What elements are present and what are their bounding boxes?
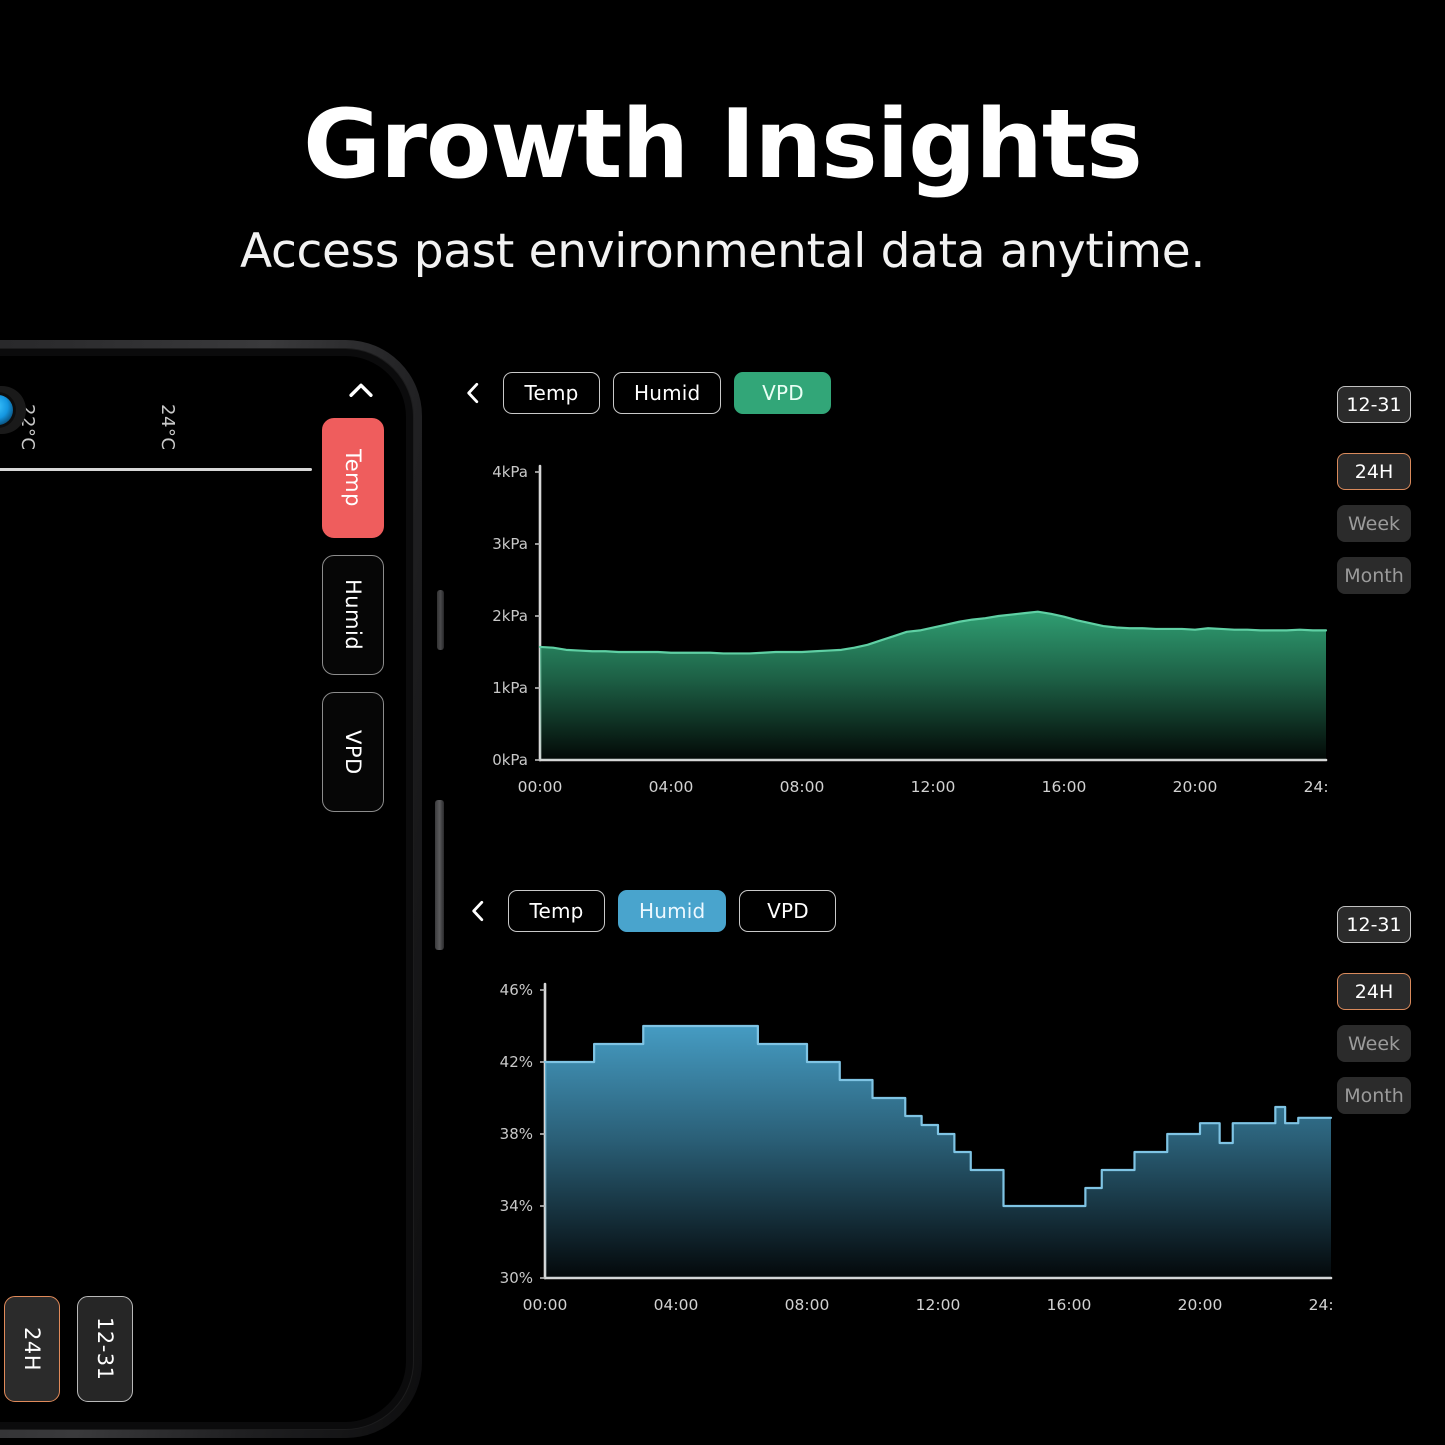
vpd-range-group: 12-31 24H Week Month [1337, 386, 1411, 609]
phone-date-button[interactable]: 12-31 [77, 1296, 133, 1402]
hero-section: Growth Insights Access past environmenta… [0, 0, 1445, 279]
phone-sensor-button-group: Temp Humid VPD [322, 418, 384, 829]
svg-text:20:00: 20:00 [1173, 778, 1218, 796]
svg-text:2kPa: 2kPa [492, 607, 528, 625]
vpd-tab-humid[interactable]: Humid [613, 372, 721, 414]
phone-sensor-button-humid[interactable]: Humid [322, 555, 384, 675]
svg-text:34%: 34% [500, 1197, 533, 1215]
vpd-range-week-label: Week [1348, 513, 1400, 535]
svg-text:04:00: 04:00 [654, 1296, 699, 1314]
vpd-chart: 0kPa1kPa2kPa3kPa4kPa00:0004:0008:0012:00… [478, 450, 1328, 810]
svg-text:00:00: 00:00 [518, 778, 563, 796]
svg-text:12:00: 12:00 [916, 1296, 961, 1314]
humid-range-group: 12-31 24H Week Month [1337, 906, 1411, 1129]
humid-date-label: 12-31 [1346, 914, 1401, 936]
vpd-segment-row: Temp Humid VPD [460, 372, 1420, 414]
humid-range-week[interactable]: Week [1337, 1025, 1411, 1062]
vpd-range-month[interactable]: Month [1337, 557, 1411, 594]
phone-date-label: 12-31 [93, 1317, 117, 1381]
vpd-tab-temp[interactable]: Temp [503, 372, 600, 414]
phone-sensor-label-humid: Humid [341, 579, 365, 650]
vpd-tab-temp-label: Temp [524, 381, 578, 405]
humid-range-24h-label: 24H [1355, 981, 1393, 1003]
phone-range-label-24h: 24H [20, 1327, 44, 1371]
svg-text:1kPa: 1kPa [492, 679, 528, 697]
svg-text:16:00: 16:00 [1047, 1296, 1092, 1314]
svg-text:12:00: 12:00 [911, 778, 956, 796]
vpd-range-week[interactable]: Week [1337, 505, 1411, 542]
phone-chart-axis-line [0, 468, 312, 471]
humid-range-month[interactable]: Month [1337, 1077, 1411, 1114]
phone-sensor-button-vpd[interactable]: VPD [322, 692, 384, 812]
svg-text:20:00: 20:00 [1178, 1296, 1223, 1314]
svg-text:16:00: 16:00 [1042, 778, 1087, 796]
svg-text:30%: 30% [500, 1269, 533, 1287]
phone-range-button-24h[interactable]: 24H [4, 1296, 60, 1402]
page-title: Growth Insights [0, 96, 1445, 196]
humid-tab-temp-label: Temp [529, 899, 583, 923]
vpd-date-label: 12-31 [1346, 394, 1401, 416]
humid-tab-temp[interactable]: Temp [508, 890, 605, 932]
svg-text:0kPa: 0kPa [492, 751, 528, 769]
chevron-left-icon[interactable] [460, 378, 486, 408]
humid-segment-row: Temp Humid VPD [465, 890, 1425, 932]
phone-screen: 18°C 20°C 22°C 24°C Temp Humid VPD [0, 356, 406, 1422]
svg-text:4kPa: 4kPa [492, 463, 528, 481]
svg-text:42%: 42% [500, 1053, 533, 1071]
humid-range-week-label: Week [1348, 1033, 1400, 1055]
svg-text:08:00: 08:00 [780, 778, 825, 796]
svg-text:24:00: 24:00 [1309, 1296, 1333, 1314]
humid-range-month-label: Month [1344, 1085, 1404, 1107]
svg-text:00:00: 00:00 [523, 1296, 568, 1314]
vpd-range-month-label: Month [1344, 565, 1404, 587]
humid-tab-vpd-label: VPD [767, 899, 809, 923]
vpd-tab-vpd[interactable]: VPD [734, 372, 831, 414]
svg-text:24:00: 24:00 [1304, 778, 1328, 796]
vpd-range-24h-label: 24H [1355, 461, 1393, 483]
page-subtitle: Access past environmental data anytime. [0, 224, 1445, 279]
svg-text:3kPa: 3kPa [492, 535, 528, 553]
phone-sensor-button-temp[interactable]: Temp [322, 418, 384, 538]
svg-text:46%: 46% [500, 981, 533, 999]
phone-axis-tick-24c: 24°C [157, 404, 178, 450]
humid-tab-humid[interactable]: Humid [618, 890, 726, 932]
humid-range-24h[interactable]: 24H [1337, 973, 1411, 1010]
vpd-date-button[interactable]: 12-31 [1337, 386, 1411, 423]
front-camera-icon [0, 395, 13, 425]
humidity-chart: 30%34%38%42%46%00:0004:0008:0012:0016:00… [483, 968, 1333, 1328]
vpd-range-24h[interactable]: 24H [1337, 453, 1411, 490]
phone-power-button [435, 800, 444, 950]
phone-temperature-chart [0, 471, 46, 1421]
humid-tab-vpd[interactable]: VPD [739, 890, 836, 932]
vpd-tab-vpd-label: VPD [762, 381, 804, 405]
humid-tab-humid-label: Humid [639, 899, 705, 923]
phone-sensor-label-temp: Temp [341, 449, 365, 507]
phone-mockup: 18°C 20°C 22°C 24°C Temp Humid VPD [0, 340, 440, 1440]
phone-sensor-label-vpd: VPD [341, 730, 365, 775]
svg-text:38%: 38% [500, 1125, 533, 1143]
svg-text:04:00: 04:00 [649, 778, 694, 796]
humid-date-button[interactable]: 12-31 [1337, 906, 1411, 943]
vpd-tab-humid-label: Humid [634, 381, 700, 405]
phone-volume-button [437, 590, 444, 650]
phone-range-button-group: Month Week 24H 12-31 [0, 1296, 133, 1402]
chevron-up-icon[interactable] [344, 374, 378, 408]
chevron-left-icon[interactable] [465, 896, 491, 926]
svg-text:08:00: 08:00 [785, 1296, 830, 1314]
